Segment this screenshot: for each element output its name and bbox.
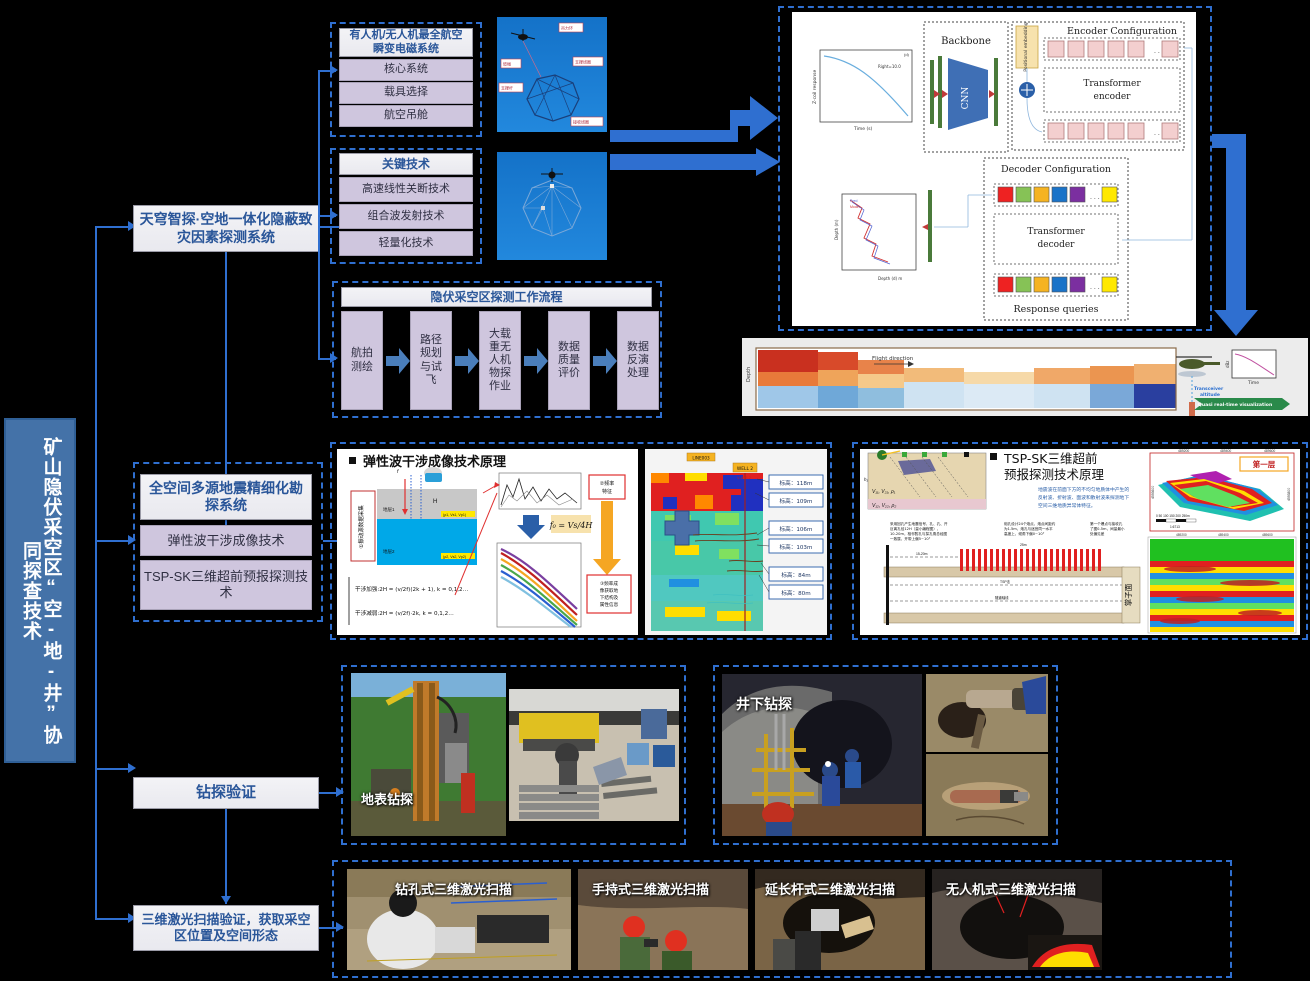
- group-em-item-1-label: 载具选择: [384, 86, 428, 99]
- seismic-section-panel: LINE003 WELL 2 V-893.2: [645, 449, 827, 635]
- svg-text:缆绳: 缆绳: [503, 61, 511, 67]
- workflow-step-2[interactable]: 大载重无人机物探作业: [479, 311, 521, 410]
- photo-core-barrel-top: [926, 674, 1048, 752]
- svg-text:像获取地: 像获取地: [600, 587, 619, 594]
- svg-text:TSP-SK三维超前: TSP-SK三维超前: [1003, 451, 1097, 466]
- svg-text:干涉加强:2H = (v/2f)(2k + 1), k =: 干涉加强:2H = (v/2f)(2k + 1), k = 0,1,2…: [355, 585, 468, 593]
- stage2-system-label: 全空间多源地震精细化勘探系统: [145, 480, 307, 514]
- surface-drill-graphic: [351, 673, 506, 836]
- workflow-arrow-1: [455, 348, 479, 374]
- svg-text:预报探测技术原理: 预报探测技术原理: [1004, 467, 1105, 482]
- svg-text:4593800: 4593800: [1287, 488, 1291, 501]
- elastic-panel: 弹性波干涉成像技术原理 ①振动源数据采集 地层1 地层2 (ρ1, Vs1, V…: [337, 449, 638, 635]
- stage3-label: 钻探验证: [196, 784, 256, 802]
- laser-scan-1-caption: 手持式三维激光扫描: [592, 879, 709, 898]
- svg-text:f₀ = Vs/4H: f₀ = Vs/4H: [549, 521, 594, 530]
- photo-laser-scan-2: 延长杆式三维激光扫描: [755, 869, 925, 970]
- photo-drone-loop: [497, 152, 607, 260]
- group-em-item-0[interactable]: 核心系统: [339, 59, 473, 81]
- svg-text:(ρ2, Vs2, Vp2): (ρ2, Vs2, Vp2): [443, 555, 466, 559]
- svg-text:WELL 2: WELL 2: [737, 466, 753, 472]
- svg-text:Quasi real-time visualization: Quasi real-time visualization: [1198, 402, 1272, 408]
- stage2-item-0-label: 弹性波干涉成像技术: [167, 533, 284, 549]
- svg-text:Transceiver: Transceiver: [1194, 386, 1224, 392]
- drone-loop-graphic: [497, 152, 607, 260]
- seismic-section-graphic: LINE003 WELL 2 V-893.2: [645, 449, 827, 635]
- stage3-to-stage4-line: [225, 809, 227, 904]
- group-em-item-2[interactable]: 航空吊舱: [339, 105, 473, 127]
- svg-text:dBz: dBz: [1225, 361, 1230, 368]
- svg-text:Model: Model: [850, 205, 860, 209]
- workflow-step-0[interactable]: 航拍测绘: [341, 311, 383, 410]
- stage3-box[interactable]: 钻探验证: [133, 777, 319, 809]
- photo-helicopter-loop: 吊力环 缆绳 支撑杆 支撑线圈 接收线圈: [497, 17, 607, 132]
- svg-text:V-893.2: V-893.2: [737, 475, 752, 480]
- stage4-label: 三维激光扫描验证，获取采空区位置及空间形态: [138, 912, 314, 944]
- svg-text:下结构及: 下结构及: [600, 594, 619, 601]
- photo-laser-scan-1: 手持式三维激光扫描: [578, 869, 748, 970]
- svg-text:489200: 489200: [1178, 449, 1189, 453]
- svg-text:②频率: ②频率: [600, 480, 614, 487]
- svg-text:(d): (d): [904, 52, 910, 57]
- neural-diagram: Time (s) Z-coil response Right=10.0 (d) …: [792, 12, 1196, 326]
- svg-text:Depth: Depth: [746, 367, 752, 382]
- photo-core-barrel-bottom: [926, 754, 1048, 836]
- core-barrel-graphic: [926, 674, 1048, 752]
- group-em-item-0-label: 核心系统: [384, 63, 428, 76]
- svg-text:V₁₁, V₂₁, ρ₁: V₁₁, V₂₁, ρ₁: [872, 489, 896, 495]
- svg-text:①振动源数据采集: ①振动源数据采集: [357, 505, 365, 549]
- helicopter-loop-graphic: 吊力环 缆绳 支撑杆 支撑线圈 接收线圈: [497, 17, 607, 132]
- svg-text:接收线圈: 接收线圈: [573, 119, 589, 125]
- stage2-item-1-label: TSP-SK三维超前预报探测技术: [144, 569, 308, 600]
- svg-text:10-20m，相邻酌孔与探孔角总经图: 10-20m，相邻酌孔与探孔角总经图: [890, 531, 947, 536]
- svg-text:. . .: . . .: [1090, 194, 1100, 201]
- svg-text:Depth (m): Depth (m): [834, 219, 839, 240]
- workflow-header[interactable]: 隐伏采空区探测工作流程: [341, 287, 652, 307]
- svg-text:隧道轴线: 隧道轴线: [995, 595, 1009, 600]
- group-em-header-label: 有人机/无人机最全航空瞬变电磁系统: [344, 29, 468, 56]
- svg-text:支撑杆: 支撑杆: [501, 85, 513, 91]
- svg-text:Backbone: Backbone: [941, 36, 991, 47]
- svg-text:489200: 489200: [1176, 533, 1187, 537]
- svg-text:地层1: 地层1: [383, 506, 395, 513]
- core-sample-ground-graphic: [926, 754, 1048, 836]
- workflow-step-0-label: 航拍测绘: [350, 347, 374, 373]
- svg-text:Decoder Configuration: Decoder Configuration: [1001, 164, 1111, 175]
- workflow-step-3[interactable]: 数据质量评价: [548, 311, 590, 410]
- arrow-stage3: [128, 763, 136, 773]
- laser-scan-3-caption: 无人机式三维激光扫描: [946, 879, 1076, 898]
- svg-text:特征: 特征: [602, 488, 612, 495]
- main-vertical-title-text: 矿山隐伏采空区“空-地-井”协同探查技术: [19, 428, 60, 753]
- arrow-stage3-down: [221, 896, 231, 904]
- svg-text:标高：84m: 标高：84m: [781, 571, 810, 579]
- photo-surface-drill-rig: 地表钻探: [351, 673, 506, 836]
- connector-to-stage2: [95, 540, 130, 542]
- group-em-item-2-label: 航空吊舱: [384, 109, 428, 122]
- svg-text:第一个爆点与接收孔: 第一个爆点与接收孔: [1090, 521, 1123, 526]
- group-em-header[interactable]: 有人机/无人机最全航空瞬变电磁系统: [339, 28, 473, 57]
- workflow-arrow-0: [386, 348, 410, 374]
- svg-text:标高：106m: 标高：106m: [780, 525, 813, 533]
- photo-laser-scan-0: 钻孔式三维激光扫描: [347, 869, 571, 970]
- elastic-principle-graphic: 弹性波干涉成像技术原理 ①振动源数据采集 地层1 地层2 (ρ1, Vs1, V…: [337, 449, 638, 635]
- svg-text:. . .: . . .: [1090, 284, 1100, 291]
- svg-text:489400: 489400: [1218, 533, 1229, 537]
- svg-text:标高：118m: 标高：118m: [780, 479, 813, 487]
- svg-text:25m: 25m: [1020, 543, 1027, 547]
- tsp-principle-graphic: V₁₁, V₂₁, ρ₁ V₁₂, V₂₂, ρ₂ h₁ TSP-SK三维超前 …: [860, 449, 1300, 635]
- svg-text:干涉减弱:2H = (v/2f)·2k, k = 0,1,2: 干涉减弱:2H = (v/2f)·2k, k = 0,1,2…: [355, 609, 454, 617]
- stage2-item-0[interactable]: 弹性波干涉成像技术: [140, 525, 312, 556]
- group-em-item-1[interactable]: 载具选择: [339, 82, 473, 104]
- svg-text:掌子面: 掌子面: [1123, 583, 1133, 606]
- group-key-item-0[interactable]: 高速线性关断技术: [339, 177, 473, 202]
- svg-text:altitude: altitude: [1200, 392, 1220, 398]
- svg-text:一致属，开带上偏5~10°: 一致属，开带上偏5~10°: [890, 536, 931, 541]
- svg-text:TSP法: TSP法: [1000, 579, 1011, 584]
- group-key-header[interactable]: 关键技术: [339, 153, 473, 175]
- connector-to-stage1: [95, 226, 130, 228]
- svg-text:标高：103m: 标高：103m: [780, 543, 813, 551]
- svg-text:第一层: 第一层: [1253, 459, 1276, 469]
- svg-text:处偏见差: 处偏见差: [1090, 531, 1105, 536]
- arrow-to-neural-top: [610, 96, 780, 156]
- svg-text:空间三维地质异常体特征。: 空间三维地质异常体特征。: [1038, 502, 1096, 509]
- connector-to-stage3: [95, 768, 130, 770]
- workflow-arrow-2: [524, 348, 548, 374]
- drill-underground-caption: 井下钻探: [736, 694, 792, 714]
- workflow-step-4[interactable]: 数据反演处理: [617, 311, 659, 410]
- svg-text:h₁: h₁: [864, 477, 869, 482]
- svg-text:489600: 489600: [1264, 449, 1275, 453]
- svg-text:Encoder Configuration: Encoder Configuration: [1067, 26, 1177, 37]
- airborne-section-graphic: Depth Flight direction Time dBz Transcei…: [742, 338, 1308, 416]
- group-key-item-1[interactable]: 组合波发射技术: [339, 204, 473, 229]
- svg-text:采用回孔产生地震信号，孔、孔、开: 采用回孔产生地震信号，孔、孔、开: [890, 521, 948, 526]
- laser-scan-0-caption: 钻孔式三维激光扫描: [395, 879, 512, 898]
- svg-text:(ρ1, Vs1, Vp1): (ρ1, Vs1, Vp1): [443, 513, 466, 517]
- spine-vertical: [95, 226, 97, 918]
- svg-text:15-20m: 15-20m: [916, 552, 928, 556]
- svg-text:属性信息: 属性信息: [600, 601, 619, 608]
- workflow-step-2-label: 大载重无人机物探作业: [488, 328, 512, 394]
- svg-text:标高：80m: 标高：80m: [781, 589, 810, 597]
- svg-text:H: H: [433, 499, 437, 505]
- svg-text:高度上，倾角下偏0~10°: 高度上，倾角下偏0~10°: [1004, 531, 1045, 536]
- svg-text:Time: Time: [1247, 380, 1259, 386]
- svg-text:Depth (d) m: Depth (d) m: [878, 276, 902, 281]
- airborne-section-panel: Depth Flight direction Time dBz Transcei…: [742, 338, 1308, 416]
- svg-text:489400: 489400: [1220, 449, 1231, 453]
- svg-text:巨离孔径12H（量小编程图），: 巨离孔径12H（量小编程图），: [890, 526, 940, 531]
- photo-core-samples: [509, 689, 679, 821]
- svg-text:V₁₂, V₂₂, ρ₂: V₁₂, V₂₂, ρ₂: [872, 503, 896, 509]
- svg-text:Time (s): Time (s): [853, 126, 873, 132]
- svg-text:CNN: CNN: [961, 87, 971, 110]
- workflow-step-1-label: 路径规划与试飞: [419, 334, 443, 387]
- svg-text:1:6713: 1:6713: [1170, 525, 1180, 529]
- workflow-step-3-label: 数据质量评价: [557, 341, 581, 381]
- group-key-item-0-label: 高速线性关断技术: [362, 183, 450, 196]
- arrow-neural-to-airborne: [1212, 130, 1262, 340]
- svg-text:地震波在前面下方的不均匀地质体中产生的: 地震波在前面下方的不均匀地质体中产生的: [1038, 486, 1129, 493]
- svg-text:decoder: decoder: [1038, 240, 1076, 250]
- svg-text:反射波、折射波、面波和散射波来探测地下: 反射波、折射波、面波和散射波来探测地下: [1038, 494, 1129, 501]
- stage1-label: 天穹智探·空地一体化隐蔽致灾因素探测系统: [138, 211, 314, 245]
- group-key-item-1-label: 组合波发射技术: [368, 210, 445, 223]
- stage2-system-box[interactable]: 全空间多源地震精细化勘探系统: [140, 474, 312, 520]
- svg-text:Pred: Pred: [850, 199, 857, 203]
- group-key-header-label: 关键技术: [382, 157, 430, 172]
- workflow-header-label: 隐伏采空区探测工作流程: [430, 290, 562, 305]
- group-key-item-2[interactable]: 轻量化技术: [339, 231, 473, 256]
- group-key-item-2-label: 轻量化技术: [379, 237, 434, 250]
- stage1-box[interactable]: 天穹智探·空地一体化隐蔽致灾因素探测系统: [133, 205, 319, 252]
- svg-text:地层2: 地层2: [383, 548, 395, 555]
- tsp-panel: V₁₁, V₂₁, ρ₁ V₁₂, V₂₂, ρ₂ h₁ TSP-SK三维超前 …: [860, 449, 1300, 635]
- svg-text:4593600: 4593600: [1151, 486, 1155, 499]
- core-samples-graphic: [509, 689, 679, 821]
- drill-surface-caption: 地表钻探: [361, 789, 413, 808]
- svg-text:支撑线圈: 支撑线圈: [575, 59, 591, 65]
- svg-text:Transformer: Transformer: [1027, 227, 1085, 237]
- main-vertical-title: 矿山隐伏采空区“空-地-井”协同探查技术: [4, 418, 76, 763]
- svg-text:③频率成: ③频率成: [600, 580, 618, 587]
- svg-text:0 50 100 150 200 250m: 0 50 100 150 200 250m: [1156, 514, 1190, 518]
- stage2-item-1[interactable]: TSP-SK三维超前预报探测技术: [140, 560, 312, 610]
- svg-text:Transformer: Transformer: [1083, 79, 1141, 89]
- svg-text:了图0-5m，间量最小: 了图0-5m，间量最小: [1090, 526, 1125, 531]
- svg-text:LINE003: LINE003: [692, 456, 710, 461]
- workflow-step-1[interactable]: 路径规划与试飞: [410, 311, 452, 410]
- connector-to-stage4: [95, 918, 130, 920]
- photo-underground-drill: 井下钻探: [722, 674, 922, 836]
- svg-text:Right=10.0: Right=10.0: [878, 64, 901, 69]
- svg-text:标高：109m: 标高：109m: [780, 497, 813, 505]
- svg-text:炮孔设计24个炮点，炮点间距约: 炮孔设计24个炮点，炮点间距约: [1004, 521, 1056, 526]
- arrow-to-neural-mid: [610, 148, 782, 176]
- svg-text:489600: 489600: [1262, 533, 1273, 537]
- svg-text:Response queries: Response queries: [1014, 304, 1099, 315]
- workflow-arrow-3: [593, 348, 617, 374]
- svg-text:Positional embedding: Positional embedding: [1023, 22, 1029, 72]
- photo-laser-scan-3: 无人机式三维激光扫描: [932, 869, 1102, 970]
- svg-text:Z-coil response: Z-coil response: [812, 70, 818, 104]
- neural-panel: Time (s) Z-coil response Right=10.0 (d) …: [792, 12, 1196, 326]
- workflow-step-4-label: 数据反演处理: [626, 341, 650, 381]
- stage4-box[interactable]: 三维激光扫描验证，获取采空区位置及空间形态: [133, 905, 319, 951]
- svg-text:为1.5m，炮孔与迷宫同一水平: 为1.5m，炮孔与迷宫同一水平: [1004, 526, 1053, 531]
- svg-text:吊力环: 吊力环: [561, 25, 573, 31]
- svg-text:encoder: encoder: [1094, 92, 1132, 102]
- svg-text:Flight direction: Flight direction: [872, 356, 914, 362]
- laser-scan-2-caption: 延长杆式三维激光扫描: [765, 879, 895, 898]
